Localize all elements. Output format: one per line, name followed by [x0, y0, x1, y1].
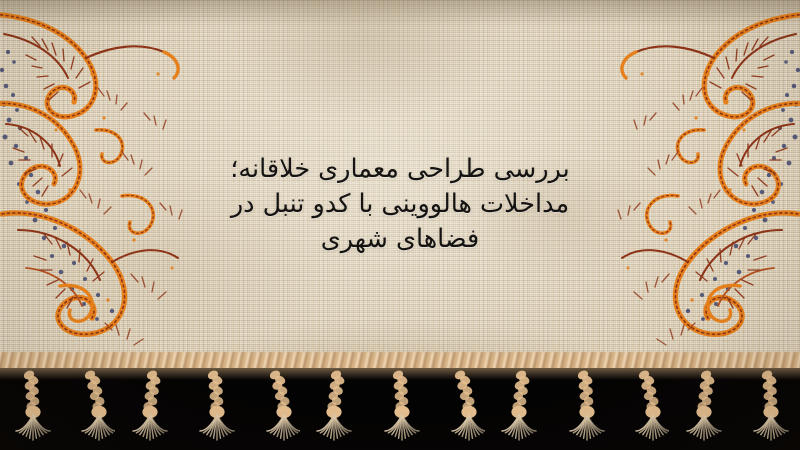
knotted-tassel	[315, 368, 361, 446]
knotted-tassel	[131, 368, 177, 446]
paisley-embroidery-top-left	[0, 0, 230, 372]
title-slide: بررسی طراحی معماری خلاقانه؛ مداخلات هالو…	[0, 0, 800, 450]
linen-fabric-panel	[0, 0, 800, 372]
knotted-tassel	[562, 368, 608, 446]
knotted-tassel	[254, 368, 300, 446]
knotted-tassel	[500, 368, 546, 446]
knotted-tassel	[623, 368, 669, 446]
paisley-embroidery-top-right	[570, 0, 800, 372]
knotted-tassel	[746, 368, 792, 446]
knotted-tassel	[439, 368, 485, 446]
knotted-tassel	[69, 368, 115, 446]
tassel-fringe-strip	[0, 368, 800, 450]
knotted-tassel	[685, 368, 731, 446]
knotted-tassel	[377, 368, 423, 446]
knotted-tassel	[8, 368, 54, 446]
knotted-tassel	[192, 368, 238, 446]
